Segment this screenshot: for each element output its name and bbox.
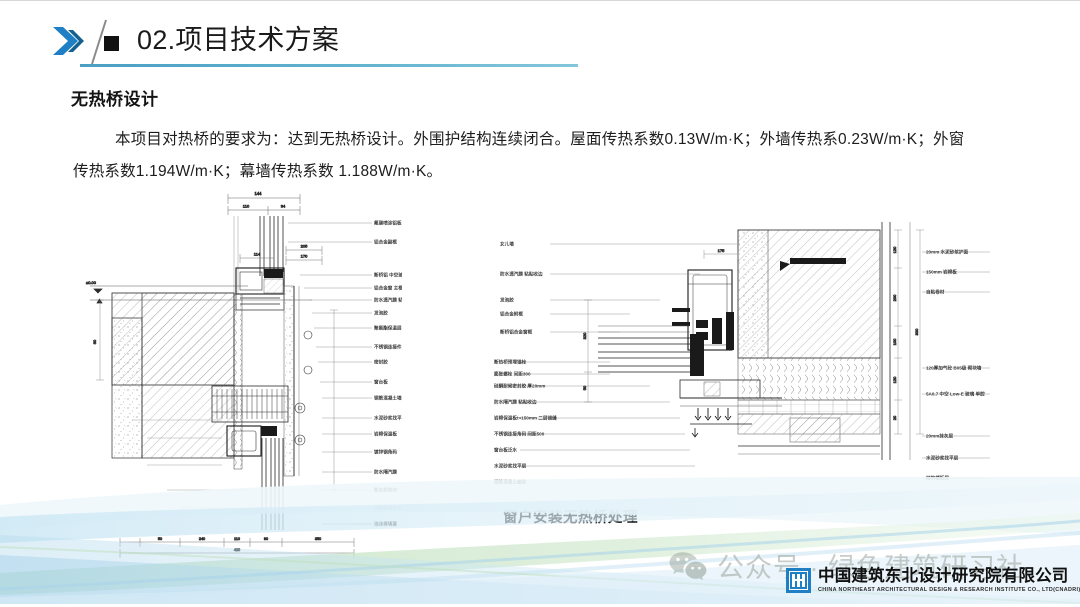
svg-text:铝合金窗 主框: 铝合金窗 主框	[374, 285, 402, 292]
svg-text:硅酮耐候密封胶: 硅酮耐候密封胶	[374, 505, 402, 512]
svg-text:350: 350	[315, 537, 321, 541]
svg-text:断桥铝合金窗框: 断桥铝合金窗框	[500, 329, 533, 336]
svg-text:镀锌钢角码: 镀锌钢角码	[374, 449, 397, 456]
double-chevron-right-icon	[52, 26, 86, 56]
slide-header: 02.项目技术方案	[0, 0, 1080, 80]
paragraph-line-1: 本项目对热桥的要求为：达到无热桥设计。外围护结构连续闭合。屋面传热系数0.13W…	[73, 124, 1013, 156]
svg-text:240: 240	[199, 537, 205, 541]
svg-text:34: 34	[281, 204, 286, 209]
svg-text:±0.00: ±0.00	[86, 280, 97, 285]
svg-text:泡沫棒填塞: 泡沫棒填塞	[374, 521, 397, 528]
svg-text:300: 300	[914, 328, 919, 335]
svg-text:20mm 水泥砂浆护面: 20mm 水泥砂浆护面	[926, 249, 969, 256]
page-title: 02.项目技术方案	[137, 20, 339, 60]
svg-text:断桥铝 中空玻璃: 断桥铝 中空玻璃	[374, 272, 402, 279]
svg-text:20mm抹灰层: 20mm抹灰层	[926, 433, 953, 440]
svg-text:水泥砂浆找平层: 水泥砂浆找平层	[494, 463, 527, 470]
svg-text:110: 110	[243, 204, 250, 209]
body-paragraph: 本项目对热桥的要求为：达到无热桥设计。外围护结构连续闭合。屋面传热系数0.13W…	[73, 124, 1013, 188]
svg-text:岩棉保温板t=150mm 二层错缝: 岩棉保温板t=150mm 二层错缝	[493, 415, 557, 422]
svg-text:结构楼板层: 结构楼板层	[926, 475, 949, 482]
svg-text:水泥砂浆找平层: 水泥砂浆找平层	[926, 455, 959, 462]
svg-text:断热桥垫块: 断热桥垫块	[374, 487, 397, 494]
section-heading: 无热桥设计	[71, 85, 159, 110]
svg-text:205: 205	[301, 244, 308, 249]
svg-text:防水透汽膜 粘贴收边: 防水透汽膜 粘贴收边	[374, 297, 402, 304]
svg-text:150mm 岩棉板: 150mm 岩棉板	[926, 269, 957, 276]
svg-text:密封胶: 密封胶	[374, 359, 388, 366]
svg-text:发泡胶: 发泡胶	[499, 297, 514, 304]
svg-text:120: 120	[892, 376, 897, 383]
svg-text:自粘卷材: 自粘卷材	[926, 289, 945, 296]
company-logo-icon	[786, 568, 811, 593]
svg-text:不锈钢连接件: 不锈钢连接件	[374, 344, 402, 351]
svg-text:5A0.7 中空 Low-E 玻璃 单腔: 5A0.7 中空 Low-E 玻璃 单腔	[926, 391, 985, 398]
svg-text:防水隔汽膜 粘贴收边: 防水隔汽膜 粘贴收边	[494, 399, 537, 406]
svg-text:水泥砂浆找平: 水泥砂浆找平	[374, 415, 402, 422]
svg-text:50: 50	[582, 385, 587, 390]
svg-text:114: 114	[254, 252, 261, 257]
svg-text:120厚加气砼 B05级 砌块墙: 120厚加气砼 B05级 砌块墙	[926, 365, 982, 372]
cad-detail-right: 120 200 100 120 20 300	[490, 222, 1000, 512]
svg-text:硅酮耐候密封胶 厚20mm: 硅酮耐候密封胶 厚20mm	[494, 383, 545, 390]
svg-text:防水透汽膜 粘贴收边: 防水透汽膜 粘贴收边	[500, 271, 543, 278]
svg-text:钢筋混凝土圈梁: 钢筋混凝土圈梁	[494, 479, 527, 486]
svg-text:不锈钢连接角码 间距500: 不锈钢连接角码 间距500	[494, 431, 545, 438]
svg-text:岩棉保温板: 岩棉保温板	[373, 431, 397, 438]
svg-text:铝合金副框: 铝合金副框	[374, 239, 397, 246]
svg-text:铝合金附框: 铝合金附框	[500, 311, 523, 318]
svg-text:窗台板: 窗台板	[374, 379, 388, 386]
svg-text:60: 60	[92, 339, 97, 344]
svg-text:100: 100	[892, 338, 897, 345]
svg-text:断热桥预埋锚栓: 断热桥预埋锚栓	[494, 359, 527, 366]
company-footer: 中国建筑东北设计研究院有限公司 CHINA NORTHEAST ARCHITEC…	[786, 568, 1080, 593]
company-name-cn: 中国建筑东北设计研究院有限公司	[818, 568, 1080, 585]
svg-text:90: 90	[264, 537, 268, 541]
svg-text:50: 50	[158, 537, 162, 541]
svg-text:窗台板泛水: 窗台板泛水	[494, 447, 517, 454]
paragraph-line-2: 传热系数1.194W/m·K；幕墙传热系数 1.188W/m·K。	[73, 163, 442, 180]
cad-detail-left: 144 110 34	[72, 190, 402, 565]
svg-text:发泡胶: 发泡胶	[373, 310, 388, 317]
svg-text:女儿墙: 女儿墙	[500, 241, 514, 248]
black-square-bullet-icon	[104, 36, 119, 51]
svg-text:防水隔汽膜: 防水隔汽膜	[374, 469, 397, 476]
slide-canvas: 02.项目技术方案 无热桥设计 本项目对热桥的要求为：达到无热桥设计。外围护结构…	[0, 0, 1080, 607]
svg-text:144: 144	[255, 191, 263, 196]
title-underline-rule	[80, 64, 578, 67]
svg-text:170: 170	[301, 254, 308, 259]
svg-text:110: 110	[234, 537, 240, 541]
company-name-en: CHINA NORTHEAST ARCHITECTURAL DESIGN & R…	[818, 588, 1080, 594]
svg-text:聚氨酯保温层 50mm: 聚氨酯保温层 50mm	[373, 325, 402, 332]
figure-caption-right: 窗户安装无热桥处理	[503, 506, 638, 527]
svg-text:320: 320	[582, 332, 587, 339]
svg-text:钢筋混凝土墙: 钢筋混凝土墙	[374, 395, 402, 402]
svg-text:120: 120	[892, 246, 897, 253]
svg-text:200: 200	[892, 294, 897, 301]
svg-text:175: 175	[718, 248, 725, 253]
svg-text:420: 420	[234, 548, 240, 552]
wechat-icon	[668, 550, 708, 581]
svg-text:20: 20	[892, 415, 897, 420]
svg-text:氟碳喷涂铝板 t=1.5: 氟碳喷涂铝板 t=1.5	[374, 220, 402, 227]
svg-text:膨胀螺栓 间距300: 膨胀螺栓 间距300	[494, 371, 531, 378]
